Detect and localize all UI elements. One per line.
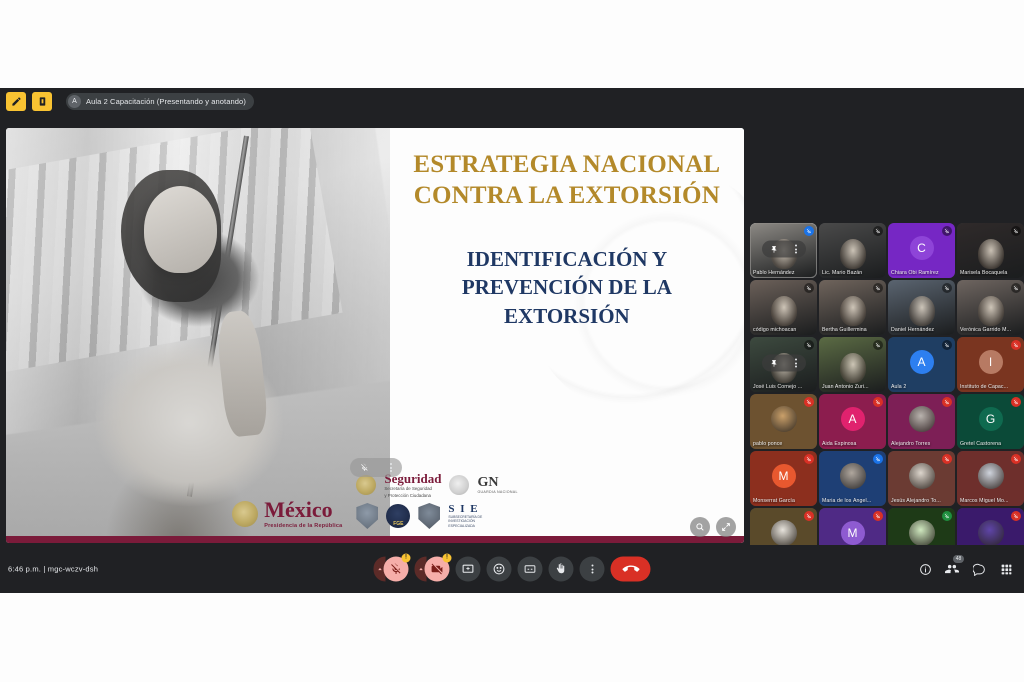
mic-muted-icon — [942, 454, 952, 464]
pin-icon[interactable] — [770, 240, 778, 258]
logo-row-estatal: FGE S I E SUBSECRETARÍA DE INVESTIGACIÓN… — [356, 503, 517, 529]
right-controls: 48 — [917, 561, 1014, 577]
raise-hand-button[interactable] — [549, 557, 574, 582]
activities-button[interactable] — [998, 561, 1014, 577]
slide-logo-strip: México Presidencia de la República Segur… — [6, 472, 744, 529]
participant-name: código michoacan — [753, 327, 805, 333]
participant-tile[interactable]: AAula 2 — [888, 337, 955, 392]
participant-tile[interactable]: Bertha Guillermina — [819, 280, 886, 335]
participant-tile[interactable]: Juan Antonio Zuri... — [819, 337, 886, 392]
participant-initial-avatar: A — [910, 350, 934, 374]
participant-name: Juan Antonio Zuri... — [822, 384, 874, 390]
participant-name: Marisela Bocaquela — [960, 270, 1012, 276]
participant-photo-avatar — [909, 520, 935, 546]
mic-muted-icon — [804, 511, 814, 521]
mic-icon — [873, 340, 883, 350]
participant-face — [840, 239, 866, 269]
pin-icon[interactable] — [770, 354, 778, 372]
microphone-warning-badge: ! — [402, 554, 411, 563]
sie-wordmark: S I E — [448, 504, 482, 515]
mic-icon — [804, 340, 814, 350]
slide-subtitle-line2: PREVENCIÓN DE LA — [462, 273, 672, 301]
slide-subtitle-line3: EXTORSIÓN — [462, 302, 672, 330]
participant-face — [909, 296, 935, 326]
tile-more-options-icon[interactable] — [795, 245, 797, 254]
slide-title: ESTRATEGIA NACIONAL CONTRA LA EXTORSIÓN — [413, 150, 720, 211]
presenter-chip-label: Aula 2 Capacitación (Presentando y anota… — [86, 97, 246, 106]
participant-tile[interactable]: Pablo Hernández — [750, 223, 817, 278]
seguridad-sub2: y Protección Ciudadana — [384, 493, 441, 499]
participant-tile[interactable]: pablo ponce — [750, 394, 817, 449]
participant-tile[interactable]: MMonserrat García — [750, 451, 817, 506]
annotation-pen-icon[interactable] — [6, 92, 26, 111]
presenter-chip[interactable]: A Aula 2 Capacitación (Presentando y ano… — [66, 93, 254, 110]
participant-name: Verónica Garrido M... — [960, 327, 1012, 333]
eagle-emblem-small-icon — [356, 475, 376, 495]
participant-name: pablo ponce — [753, 441, 805, 447]
slide-subtitle: IDENTIFICACIÓN Y PREVENCIÓN DE LA EXTORS… — [462, 245, 672, 330]
participant-photo-avatar — [909, 463, 935, 489]
fullscreen-slide-button[interactable] — [716, 517, 736, 537]
slide-content: ESTRATEGIA NACIONAL CONTRA LA EXTORSIÓN … — [6, 128, 744, 543]
mic-muted-icon — [1011, 340, 1021, 350]
participant-photo-avatar — [840, 463, 866, 489]
slide-view-controls — [690, 517, 736, 537]
more-options-button[interactable] — [580, 557, 605, 582]
mic-muted-icon — [942, 397, 952, 407]
people-count-badge: 48 — [953, 555, 964, 563]
participant-name: Marcos Miguel Mo... — [960, 498, 1012, 504]
participant-initial-avatar: I — [979, 350, 1003, 374]
fge-badge-icon: FGE — [386, 504, 410, 528]
microphone-button[interactable]: ! — [384, 557, 409, 582]
tile-more-options-icon[interactable] — [795, 359, 797, 368]
michoacan-shield-icon — [356, 503, 378, 529]
gn-subtitle: GUARDIA NACIONAL — [477, 490, 517, 494]
participant-face — [840, 353, 866, 383]
mic-icon — [942, 511, 952, 521]
mic-muted-icon — [873, 511, 883, 521]
logo-gobierno-mexico: México Presidencia de la República — [232, 499, 342, 529]
participant-tile[interactable]: IInstituto de Capac... — [957, 337, 1024, 392]
mic-icon — [873, 226, 883, 236]
participant-name: Lic. Mario Bazán — [822, 270, 874, 276]
participant-initial-avatar: G — [979, 407, 1003, 431]
participant-name: Alejandro Torres — [891, 441, 943, 447]
slide-title-line1: ESTRATEGIA NACIONAL — [413, 150, 720, 181]
presenter-avatar: A — [68, 95, 81, 108]
tile-hover-overlay[interactable] — [762, 355, 806, 372]
more-options-icon — [591, 565, 593, 574]
people-button[interactable]: 48 — [944, 561, 960, 577]
tile-hover-overlay[interactable] — [762, 241, 806, 258]
slide-title-line2: CONTRA LA EXTORSIÓN — [413, 181, 720, 212]
participant-name: Bertha Guillermina — [822, 327, 874, 333]
gn-wordmark: GN — [477, 476, 517, 490]
microphone-group: ! — [374, 557, 409, 582]
more-options-icon[interactable] — [390, 463, 392, 472]
participant-name: Jesús Alejandro To... — [891, 498, 943, 504]
camera-button[interactable]: ! — [425, 557, 450, 582]
participant-tile[interactable]: Marcos Miguel Mo... — [957, 451, 1024, 506]
fge-wordmark: FGE — [393, 521, 403, 527]
guardia-nacional-seal-icon — [449, 475, 469, 495]
participant-tile[interactable]: Alejandro Torres — [888, 394, 955, 449]
participant-photo-avatar — [978, 463, 1004, 489]
participant-photo-avatar — [771, 406, 797, 432]
mic-icon — [942, 340, 952, 350]
mexico-wordmark: México — [264, 499, 342, 521]
meeting-meta: 6:46 p.m. | mgc-wczv-dsh — [8, 565, 98, 574]
participant-tile[interactable]: Maria de los Ángel... — [819, 451, 886, 506]
participant-name: Aula 2 — [891, 384, 943, 390]
mic-muted-icon — [1011, 511, 1021, 521]
participant-tile[interactable]: Lic. Mario Bazán — [819, 223, 886, 278]
participant-name: Instituto de Capac... — [960, 384, 1012, 390]
participant-tile[interactable]: Daniel Hernández — [888, 280, 955, 335]
screenshot-frame: A Aula 2 Capacitación (Presentando y ano… — [0, 0, 1024, 682]
participant-photo-avatar — [978, 520, 1004, 546]
mic-icon — [873, 283, 883, 293]
participant-face — [840, 296, 866, 326]
meeting-details-button[interactable] — [917, 561, 933, 577]
mic-icon — [1011, 226, 1021, 236]
mic-muted-icon — [1011, 454, 1021, 464]
participant-photo-avatar — [771, 520, 797, 546]
mexico-subtitle: Presidencia de la República — [264, 523, 342, 529]
sie-sub3: ESPECIALIZADA — [448, 524, 482, 528]
participant-photo-avatar — [909, 406, 935, 432]
annotation-stop-icon[interactable] — [32, 92, 52, 111]
zoom-slide-button[interactable] — [690, 517, 710, 537]
participant-initial-avatar: C — [910, 236, 934, 260]
hangup-button[interactable] — [611, 557, 651, 582]
participant-name: Chiara Obi Ramírez — [891, 270, 943, 276]
present-button[interactable] — [456, 557, 481, 582]
slide-subtitle-line1: IDENTIFICACIÓN Y — [462, 245, 672, 273]
seguridad-sub1: Secretaría de Seguridad — [384, 486, 441, 492]
mic-muted-icon — [804, 397, 814, 407]
participant-name: Gretel Castorena — [960, 441, 1012, 447]
presenter-overlay-pill[interactable] — [350, 458, 402, 477]
reactions-button[interactable] — [487, 557, 512, 582]
participant-tile[interactable]: Marisela Bocaquela — [957, 223, 1024, 278]
mic-muted-icon — [1011, 397, 1021, 407]
policia-shield-icon — [418, 503, 440, 529]
camera-warning-badge: ! — [443, 554, 452, 563]
participant-name: Maria de los Ángel... — [822, 498, 874, 504]
participant-face — [978, 296, 1004, 326]
participant-name: Pablo Hernández — [753, 270, 805, 276]
center-controls: ! ! — [374, 557, 651, 582]
participant-initial-avatar: M — [841, 521, 865, 545]
participant-tile[interactable]: GGretel Castorena — [957, 394, 1024, 449]
participant-name: Aida Espinosa — [822, 441, 874, 447]
top-annotation-bar: A Aula 2 Capacitación (Presentando y ano… — [0, 88, 1024, 114]
mic-icon — [942, 226, 952, 236]
participant-name: Daniel Hernández — [891, 327, 943, 333]
participant-initial-avatar: M — [772, 464, 796, 488]
mic-icon — [942, 283, 952, 293]
participant-name: Monserrat García — [753, 498, 805, 504]
mic-off-icon[interactable] — [360, 459, 369, 477]
mic-icon — [873, 454, 883, 464]
participant-face — [771, 296, 797, 326]
mic-icon — [804, 226, 814, 236]
participant-tile[interactable]: AAida Espinosa — [819, 394, 886, 449]
participant-tile[interactable]: José Luis Cornejo ... — [750, 337, 817, 392]
mic-icon — [804, 283, 814, 293]
mic-muted-icon — [804, 454, 814, 464]
logo-group-federal: Seguridad Secretaría de Seguridad y Prot… — [356, 472, 517, 529]
participant-grid: Pablo HernándezLic. Mario BazánCChiara O… — [750, 223, 1024, 593]
participant-tile[interactable]: Jesús Alejandro To... — [888, 451, 955, 506]
meeting-control-bar: 6:46 p.m. | mgc-wczv-dsh ! — [0, 545, 1024, 593]
participant-initial-avatar: A — [841, 407, 865, 431]
participant-tile[interactable]: código michoacan — [750, 280, 817, 335]
participant-tile[interactable]: Verónica Garrido M... — [957, 280, 1024, 335]
participant-tile[interactable]: CChiara Obi Ramírez — [888, 223, 955, 278]
google-meet-window: A Aula 2 Capacitación (Presentando y ano… — [0, 88, 1024, 593]
captions-button[interactable] — [518, 557, 543, 582]
participant-face — [978, 239, 1004, 269]
participant-name: José Luis Cornejo ... — [753, 384, 805, 390]
mic-muted-icon — [873, 397, 883, 407]
eagle-emblem-icon — [232, 501, 258, 527]
mic-icon — [1011, 283, 1021, 293]
slide-accent-bar — [6, 536, 744, 543]
presentation-stage[interactable]: ESTRATEGIA NACIONAL CONTRA LA EXTORSIÓN … — [6, 128, 744, 543]
camera-group: ! — [415, 557, 450, 582]
chat-button[interactable] — [971, 561, 987, 577]
